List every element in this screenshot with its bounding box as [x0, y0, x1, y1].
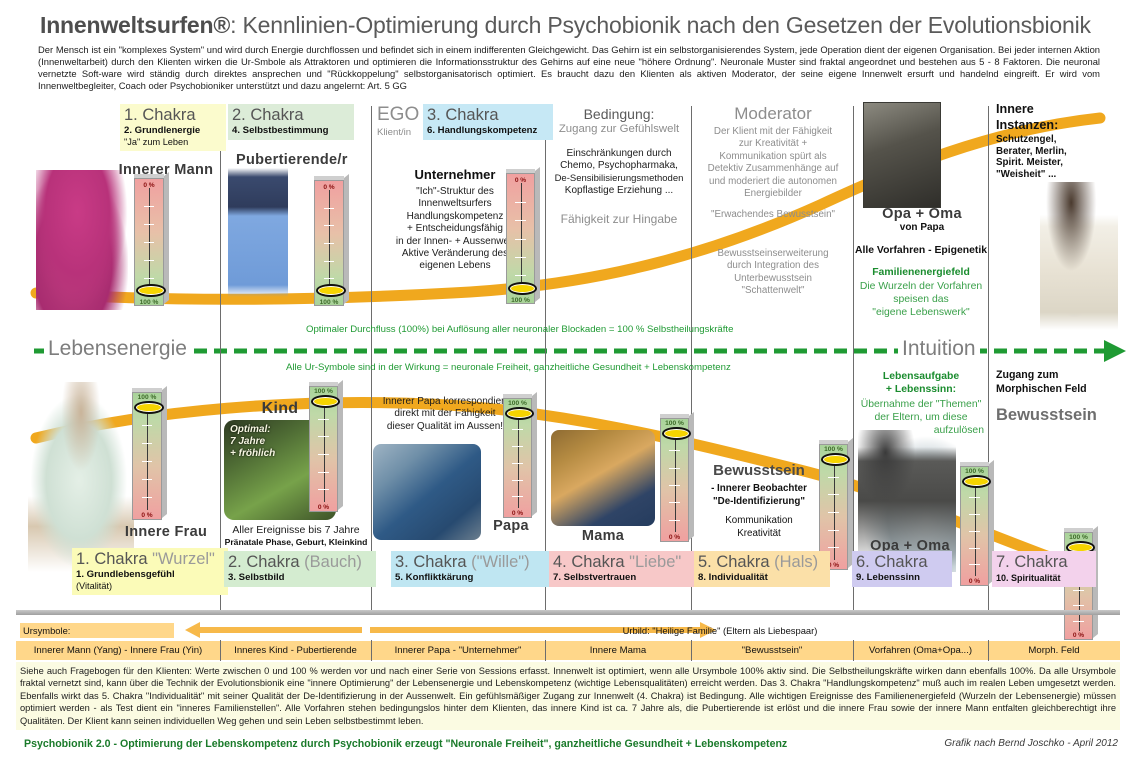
gauge-label-top: 0 % [506, 177, 535, 184]
gauge-label-bottom: 0 % [660, 534, 689, 541]
line: Instanzen: [996, 117, 1126, 133]
ursymbole-cell: Morph. Feld [988, 641, 1120, 660]
axis-caption-bottom: Alle Ur-Symbole sind in der Wirkung = ne… [286, 362, 731, 373]
line: Die Wurzeln der Vorfahren [852, 280, 990, 293]
line: dieser Qualität im Aussen! [371, 421, 519, 433]
ursymbole-divider [988, 640, 989, 661]
gauge-label-top: 100 % [660, 420, 689, 427]
ego-sublabel: Klient/in [377, 126, 411, 140]
lebensaufgabe-title: Lebensaufgabe + Lebenssinn: [854, 370, 988, 396]
chakra-sub2: (Vitalität) [76, 581, 224, 592]
chakra-title: 7. Chakra [996, 553, 1092, 571]
chakra-sub2: "Ja" zum Leben [124, 137, 222, 148]
gauge-label-bottom: 100 % [134, 299, 164, 306]
top-chakra-1-header: 1. Chakra 2. Grundlenergie "Ja" zum Lebe… [120, 104, 226, 151]
line: zur Kreativität + [692, 138, 854, 150]
gauge-label-bottom: 0 % [132, 512, 162, 519]
line: 7 Jahre [230, 436, 300, 448]
chakra-title: 5. Chakra (Hals) [698, 553, 826, 571]
page-title-brand: Innenweltsurfen® [40, 12, 230, 38]
chakra-title: 1. Chakra "Wurzel" [76, 550, 224, 568]
line: Chemo, Psychopharmaka, [546, 160, 692, 172]
chakra-sub: 7. Selbstvertrauen [553, 572, 693, 584]
ursymbole-cell: "Bewusstsein" [691, 641, 853, 660]
gauge-label-top: 0 % [314, 184, 344, 191]
moderator-lines2: Bewusstseinserweiterung durch Integratio… [692, 248, 854, 298]
line: Spirit. Meister, [996, 157, 1126, 169]
chakra-title: 2. Chakra [232, 106, 350, 124]
bottom-chakra-1-header: 1. Chakra "Wurzel" 1. Grundlebensgefühl … [72, 548, 228, 595]
chakra-title: 3. Chakra ("Wille") [395, 553, 547, 571]
line: "De-Identifizierung" [692, 495, 826, 508]
bewusstsein-big: Bewusstsein [996, 406, 1134, 425]
line: Unterbewusstsein [692, 273, 854, 285]
chakra-number: 4. Chakra [553, 553, 625, 571]
gauge-bottom-2: 100 % 0 % [309, 386, 338, 512]
chakra-sub: 9. Lebenssinn [856, 572, 948, 584]
gauge-top-1: 0 % 100 % [134, 178, 164, 306]
line: der Eltern, um diese [852, 411, 990, 424]
kind-overlay: Optimal: 7 Jahre + fröhlich [230, 424, 300, 460]
chakra-number: 2. Chakra [228, 553, 300, 571]
chakra-title: 3. Chakra [427, 106, 549, 124]
innere-instanzen-heading: Innere Instanzen: [996, 101, 1126, 133]
chakra-quote: (Bauch) [304, 553, 362, 571]
gauge-label-bottom: 100 % [314, 299, 344, 306]
innere-instanzen-lines: Schutzengel, Berater, Merlin, Spirit. Me… [996, 134, 1126, 180]
line: + fröhlich [230, 448, 300, 460]
bottom-chakra-7-header: 7. Chakra 10. Spiritualität [992, 551, 1096, 587]
moderator-quote: "Erwachendes Bewusstsein" [692, 208, 854, 222]
line: Schutzengel, [996, 134, 1126, 146]
photo-opa-oma-papa [863, 102, 941, 208]
top-chakra-2-header: 2. Chakra 4. Selbstbestimmung [228, 104, 354, 140]
line: Einschränkungen durch [546, 148, 692, 160]
bewusstsein-heading: Bewusstsein [694, 462, 824, 479]
line: Innerer Papa korrespondiert [371, 396, 519, 408]
ursymbole-cell: Innere Mama [545, 641, 691, 660]
chakra-title: 1. Chakra [124, 106, 222, 124]
chakra-title: 6. Chakra [856, 553, 948, 571]
bottom-person-1: Innere Frau [116, 524, 216, 540]
bottom-chakra-5-header: 5. Chakra (Hals) 8. Individualität [694, 551, 830, 587]
gauge-bottom-6: 100 % 0 % [960, 466, 989, 586]
ursymbole-divider [691, 640, 692, 661]
chakra-number: 3. Chakra [395, 553, 467, 571]
top-person-6: Opa + Oma [858, 206, 986, 222]
gauge-bottom-1: 100 % 0 % [132, 392, 162, 520]
line: "eigene Lebenswerk" [852, 306, 990, 319]
moderator-heading: Moderator [694, 103, 852, 124]
moderator-lines: Der Klient mit der Fähigkeit zur Kreativ… [692, 126, 854, 200]
familienenergiefeld-title: Familienenergiefeld [854, 266, 988, 279]
line: direkt mit der Fähigkeit [371, 408, 519, 420]
line: Morphischen Feld [996, 382, 1132, 396]
chakra-sub: 8. Individualität [698, 572, 826, 584]
ursymbole-row: Innerer Mann (Yang) - Innere Frau (Yin) … [16, 641, 1120, 660]
gauge-top-2: 0 % 100 % [314, 180, 344, 306]
ego-label: EGO [377, 104, 419, 125]
epigenetik-label: Alle Vorfahren - Epigenetik [854, 244, 988, 257]
morphisches-feld-lines: Zugang zum Morphischen Feld [996, 368, 1132, 396]
ursymbole-divider [220, 640, 221, 661]
photo-pubertierende [228, 156, 288, 306]
page-title: Innenweltsurfen®: Kennlinien-Optimierung… [40, 12, 1110, 39]
footnote-text: Siehe auch Fragebogen für den Klienten: … [16, 662, 1120, 730]
chakra-quote: "Wurzel" [152, 550, 215, 568]
gauge-label-top: 100 % [132, 394, 162, 401]
line: - Innerer Beobachter [692, 482, 826, 495]
bottom-chakra-3-header: 3. Chakra ("Wille") 5. Konfliktkärung [391, 551, 551, 587]
gauge-label-bottom: 0 % [960, 578, 989, 585]
chakra-sub: 2. Grundlenergie [124, 125, 222, 137]
photo-innere-frau [28, 382, 134, 572]
line: De-Sensibilisierungsmethoden [546, 173, 692, 185]
line: Zugang zum [996, 368, 1132, 382]
line: Innere [996, 101, 1126, 117]
line: speisen das [852, 293, 990, 306]
photo-innerer-mann [36, 170, 128, 310]
separator-bar-top [16, 610, 1120, 615]
axis-caption-top: Optimaler Durchfluss (100%) bei Auflösun… [306, 324, 733, 335]
line: "Schattenwelt" [692, 285, 854, 297]
chakra-quote: (Hals) [774, 553, 818, 571]
chakra-sub: 10. Spiritualität [996, 572, 1092, 584]
credit: Grafik nach Bernd Joschko - April 2012 [944, 738, 1118, 749]
line: + Lebenssinn: [854, 383, 988, 396]
line: Bewusstseinserweiterung [692, 248, 854, 260]
tagline: Psychobionik 2.0 - Optimierung der Leben… [24, 738, 787, 750]
ursymbole-cell: Innerer Papa - "Unternehmer" [371, 641, 545, 660]
photo-mama [551, 430, 655, 526]
gauge-label-bottom: 0 % [309, 504, 338, 511]
chakra-sub: 5. Konfliktkärung [395, 572, 547, 584]
ursymbole-divider [853, 640, 854, 661]
bottom-person-4: Mama [551, 528, 655, 544]
bottom-person-3: Papa [482, 518, 540, 534]
urbild-label: Urbild: "Heilige Familie" (Eltern als Li… [420, 623, 1020, 638]
ursymbole-cell: Inneres Kind - Pubertierende [220, 641, 371, 660]
gauge-label-top: 100 % [1064, 534, 1093, 541]
gauge-bottom-3: 100 % 0 % [503, 398, 532, 518]
bottom-chakra-2-header: 2. Chakra (Bauch) 3. Selbstbild [224, 551, 376, 587]
innerer-papa-lines: Innerer Papa korrespondiert direkt mit d… [371, 396, 519, 433]
gauge-label-top: 100 % [309, 388, 338, 395]
ursymbole-cell: Vorfahren (Oma+Opa...) [853, 641, 988, 660]
intro-paragraph: Der Mensch ist ein "komplexes System" un… [38, 44, 1100, 92]
ursymbole-cell: Innerer Mann (Yang) - Innere Frau (Yin) [16, 641, 220, 660]
line: Lebensaufgabe [854, 370, 988, 383]
top-person-6-sub: von Papa [858, 222, 986, 233]
line: Der Klient mit der Fähigkeit [692, 126, 854, 138]
line: und moderiert die autonomen [692, 176, 854, 188]
line: Optimal: [230, 424, 300, 436]
chakra-number: 5. Chakra [698, 553, 770, 571]
line: Berater, Merlin, [996, 146, 1126, 158]
line: Energiebilder [692, 188, 854, 200]
gauge-label-top: 100 % [819, 446, 848, 453]
bottom-chakra-6-header: 6. Chakra 9. Lebenssinn [852, 551, 952, 587]
bewusstsein-lines: - Innerer Beobachter "De-Identifizierung… [692, 482, 826, 540]
bedingung-lines: Einschränkungen durch Chemo, Psychopharm… [546, 148, 692, 198]
top-chakra-3-header: 3. Chakra 6. Handlungskompetenz [423, 104, 553, 140]
ursymbole-tag: Ursymbole: [20, 623, 174, 638]
gauge-label-top: 100 % [503, 400, 532, 407]
gauge-label-bottom: 0 % [1064, 632, 1093, 639]
chakra-quote: "Liebe" [629, 553, 681, 571]
gauge-label-top: 100 % [960, 468, 989, 475]
chakra-number: 1. Chakra [76, 550, 148, 568]
familienenergiefeld-lines: Die Wurzeln der Vorfahren speisen das "e… [852, 280, 990, 319]
ursymbole-divider [371, 640, 372, 661]
axis-label-intuition: Intuition [898, 338, 980, 360]
bedingung-subheading: Zugang zur Gefühlswelt [549, 122, 689, 136]
photo-papa [373, 444, 481, 540]
line: durch Integration des [692, 260, 854, 272]
chakra-title: 4. Chakra "Liebe" [553, 553, 693, 571]
page-title-rest: : Kennlinien-Optimierung durch Psychobio… [230, 12, 1091, 38]
line: Kommunikation [692, 514, 826, 527]
bottom-chakra-4-header: 4. Chakra "Liebe" 7. Selbstvertrauen [549, 551, 697, 587]
line: Kommunikation spürt als [692, 151, 854, 163]
axis-label-lebensenergie: Lebensenergie [44, 338, 191, 360]
chakra-quote: ("Wille") [471, 553, 529, 571]
line: Übernahme der "Themen" [852, 398, 990, 411]
line: Kreativität [692, 527, 826, 540]
gauge-label-bottom: 0 % [503, 510, 532, 517]
ursymbole-divider [545, 640, 546, 661]
kind-note2: Pränatale Phase, Geburt, Kleinkind [220, 537, 372, 547]
chakra-sub: 1. Grundlebensgefühl [76, 569, 224, 581]
bedingung-footer: Fähigkeit zur Hingabe [549, 212, 689, 226]
chakra-sub: 3. Selbstbild [228, 572, 372, 584]
line: "Weisheit" ... [996, 169, 1126, 181]
gauge-label-top: 0 % [134, 182, 164, 189]
chakra-title: 2. Chakra (Bauch) [228, 553, 372, 571]
kind-note1: Aller Ereignisse bis 7 Jahre [222, 524, 370, 536]
gauge-top-3: 0 % 100 % [506, 173, 535, 304]
photo-engel [1040, 182, 1118, 330]
line: Detektiv Zusammenhänge auf [692, 163, 854, 175]
gauge-label-bottom: 100 % [506, 297, 535, 304]
chakra-sub: 4. Selbstbestimmung [232, 125, 350, 137]
gauge-bottom-4: 100 % 0 % [660, 418, 689, 542]
chakra-sub: 6. Handlungskompetenz [427, 125, 549, 137]
line: Kopflastige Erziehung ... [546, 185, 692, 197]
